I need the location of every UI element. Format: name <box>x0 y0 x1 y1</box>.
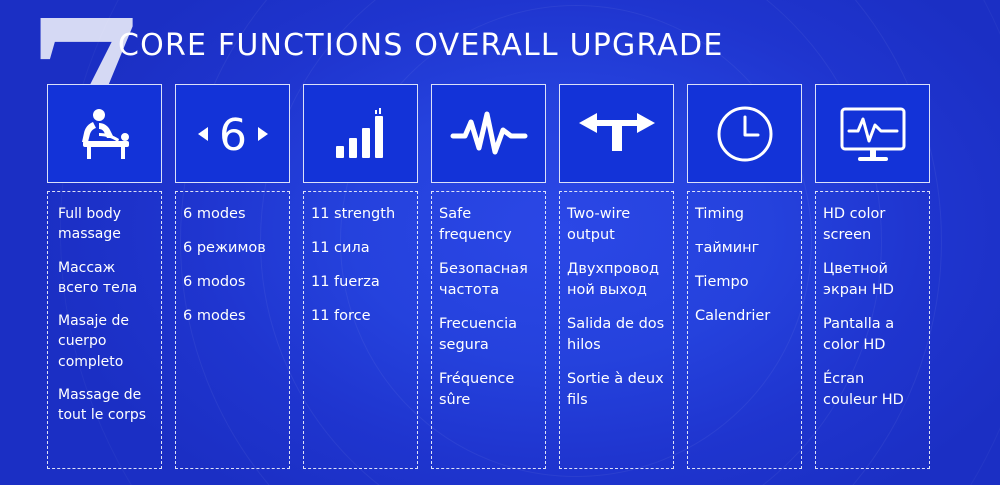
feature-line: 6 modos <box>183 272 282 293</box>
feature-line: 6 режимов <box>183 238 282 259</box>
feature-text-box: 11 strength 11 сила 11 fuerza 11 force <box>303 191 418 469</box>
clock-icon <box>687 84 802 183</box>
feature-line: Two-wire output <box>567 204 666 246</box>
feature-card-timing: Timing тайминг Tiempo Calendrier <box>687 84 802 469</box>
feature-line: Двухпроводной выход <box>567 259 666 301</box>
feature-card-row: Full body massage Массаж всего тела Masa… <box>47 84 930 469</box>
feature-line: тайминг <box>695 238 794 259</box>
hd-monitor-ecg-icon <box>815 84 930 183</box>
feature-line: Masaje de cuerpo completo <box>58 311 154 372</box>
feature-line: Tiempo <box>695 272 794 293</box>
feature-line: 6 modes <box>183 306 282 327</box>
feature-card-hd-color-screen: HD color screen Цветной экран HD Pantall… <box>815 84 930 469</box>
feature-text-box: Timing тайминг Tiempo Calendrier <box>687 191 802 469</box>
feature-line: Frecuencia segura <box>439 314 538 356</box>
feature-line: 11 strength <box>311 204 410 225</box>
feature-card-full-body-massage: Full body massage Массаж всего тела Masa… <box>47 84 162 469</box>
feature-line: 11 force <box>311 306 410 327</box>
feature-line: Calendrier <box>695 306 794 327</box>
waveform-pulse-icon <box>431 84 546 183</box>
feature-line: Salida de dos hilos <box>567 314 666 356</box>
massage-table-icon <box>47 84 162 183</box>
feature-line: 11 fuerza <box>311 272 410 293</box>
feature-line: Массаж всего тела <box>58 258 154 299</box>
svg-text:6: 6 <box>219 110 247 161</box>
feature-text-box: Full body massage Массаж всего тела Masa… <box>47 191 162 469</box>
feature-card-eleven-strength: 11 strength 11 сила 11 fuerza 11 force <box>303 84 418 469</box>
feature-card-two-wire-output: Two-wire output Двухпроводной выход Sali… <box>559 84 674 469</box>
feature-line: Безопасная частота <box>439 259 538 301</box>
feature-line: 6 modes <box>183 204 282 225</box>
feature-line: Safe frequency <box>439 204 538 246</box>
feature-line: Sortie à deux fils <box>567 369 666 411</box>
feature-card-safe-frequency: Safe frequency Безопасная частота Frecue… <box>431 84 546 469</box>
feature-text-box: 6 modes 6 режимов 6 modos 6 modes <box>175 191 290 469</box>
promo-banner: 7 CORE FUNCTIONS OVERALL UPGRADE <box>0 0 1000 485</box>
feature-line: Massage de tout le corps <box>58 385 154 426</box>
signal-bars-icon <box>303 84 418 183</box>
feature-text-box: Safe frequency Безопасная частота Frecue… <box>431 191 546 469</box>
feature-line: Full body massage <box>58 204 154 245</box>
two-way-arrows-icon <box>559 84 674 183</box>
feature-line: Écran couleur HD <box>823 369 922 411</box>
feature-text-box: HD color screen Цветной экран HD Pantall… <box>815 191 930 469</box>
feature-line: Timing <box>695 204 794 225</box>
feature-line: Fréquence sûre <box>439 369 538 411</box>
feature-card-six-modes: 6 6 modes 6 режимов 6 modos 6 modes <box>175 84 290 469</box>
feature-line: Pantalla a color HD <box>823 314 922 356</box>
six-modes-arrows-icon: 6 <box>175 84 290 183</box>
page-title: CORE FUNCTIONS OVERALL UPGRADE <box>118 28 724 63</box>
feature-line: 11 сила <box>311 238 410 259</box>
feature-line: Цветной экран HD <box>823 259 922 301</box>
feature-line: HD color screen <box>823 204 922 246</box>
feature-text-box: Two-wire output Двухпроводной выход Sali… <box>559 191 674 469</box>
